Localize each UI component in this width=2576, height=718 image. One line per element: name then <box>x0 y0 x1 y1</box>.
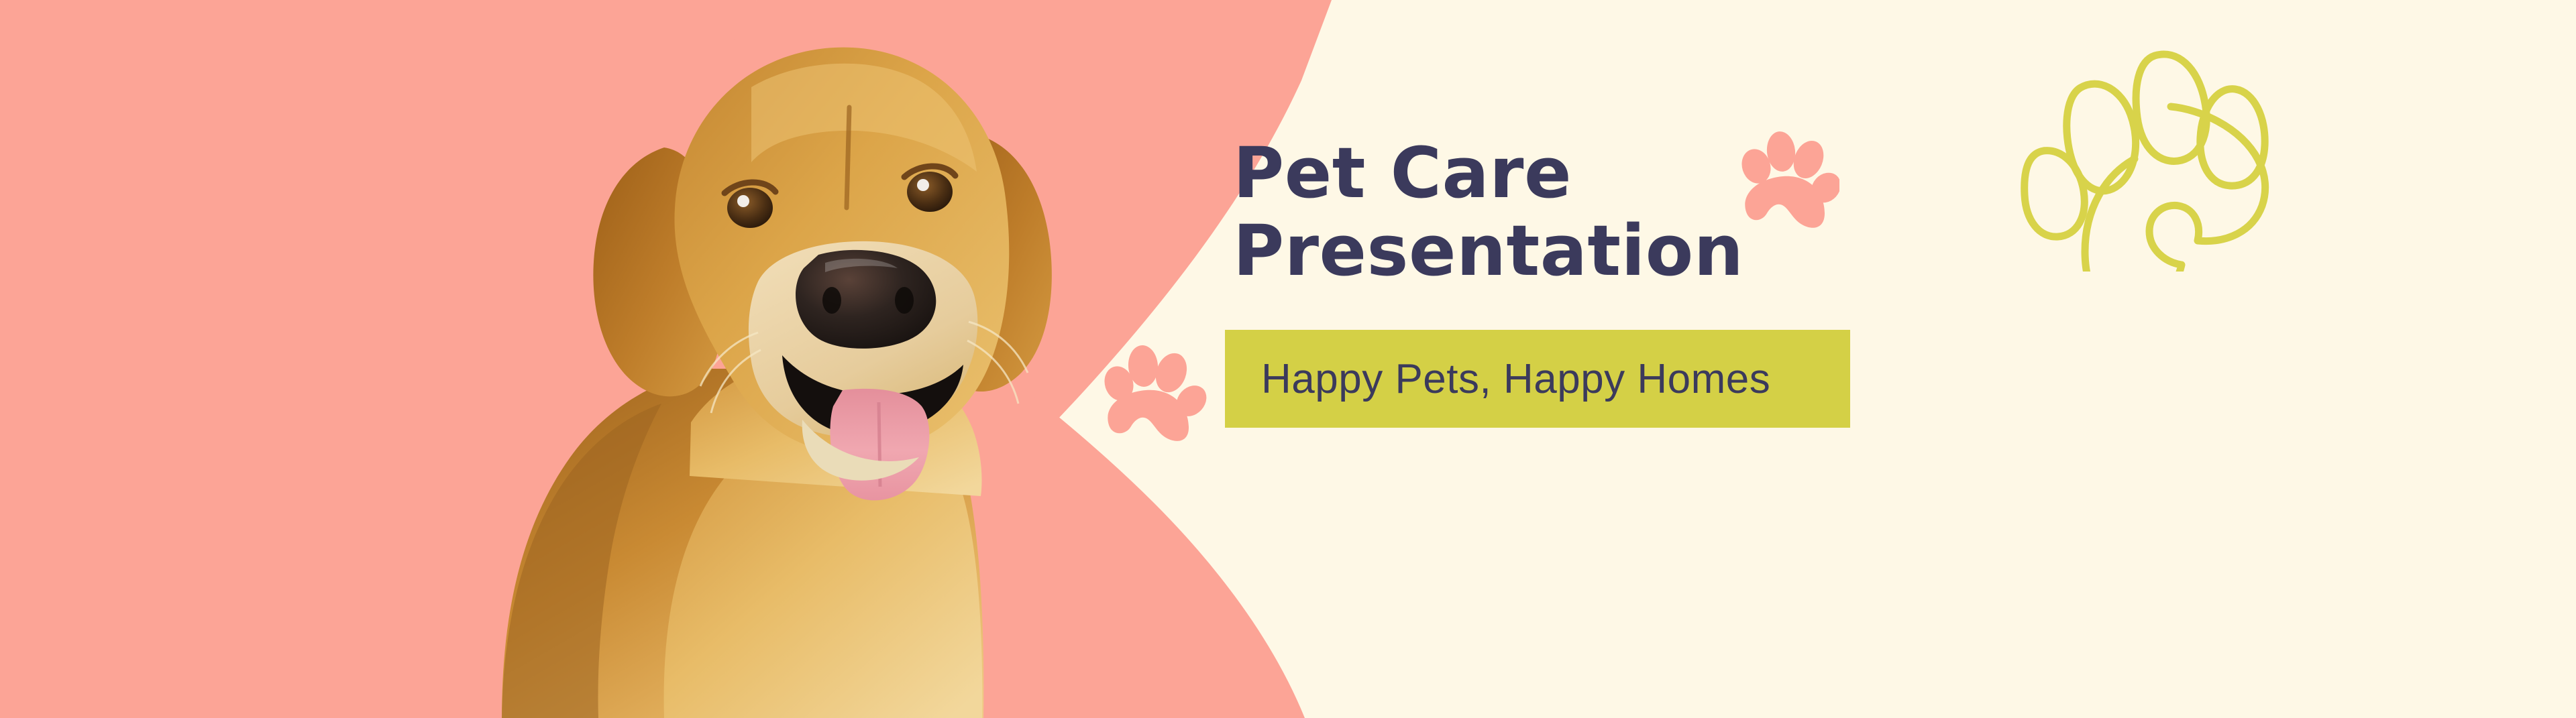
paw-outline-toe-3 <box>2200 89 2265 186</box>
dog-forehead-crease <box>847 107 849 208</box>
dog-nostril-right <box>895 287 914 314</box>
dog-nostril-left <box>822 287 841 314</box>
dog-photo <box>288 7 1107 718</box>
paw-icon <box>1103 335 1207 442</box>
tagline: Happy Pets, Happy Homes <box>1261 330 1818 428</box>
dog-eye-left-glint <box>737 195 749 207</box>
page-title: Pet Care Presentation <box>1233 134 2105 290</box>
pet-care-banner: Pet Care Presentation Happy Pets, Happy … <box>0 0 2576 718</box>
headline-line-2: Presentation <box>1233 212 2105 290</box>
dog-eye-right <box>907 172 953 212</box>
dog-eye-left <box>727 188 773 228</box>
golden-retriever-illustration <box>288 7 1107 718</box>
headline-line-1: Pet Care <box>1233 132 1572 214</box>
dog-eye-right-glint <box>917 179 929 191</box>
headline-block: Pet Care Presentation <box>1233 134 2105 290</box>
